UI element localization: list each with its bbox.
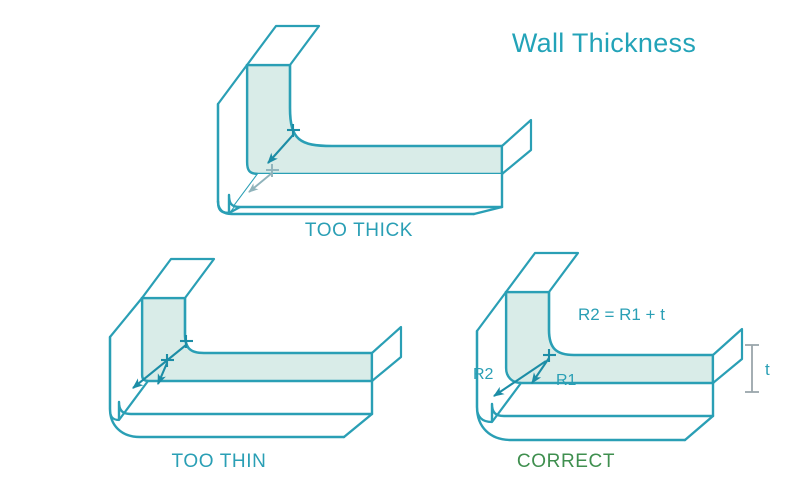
caption-correct: CORRECT: [517, 451, 615, 472]
caption-too-thick: TOO THICK: [305, 220, 413, 241]
too-thin-base-outline: [119, 381, 372, 420]
label-r2: R2: [473, 366, 494, 383]
figure-too-thin: TOO THIN: [110, 259, 401, 472]
wall-thickness-diagram: TOO THICK Wall Thickness TOO THIN: [0, 0, 800, 500]
too-thin-base-far-edge: [344, 414, 372, 437]
correct-top-face: [506, 253, 578, 292]
too-thin-front-face: [142, 298, 372, 381]
too-thick-top-back-edge: [319, 26, 502, 146]
too-thick-front-face: [247, 65, 502, 174]
caption-too-thin: TOO THIN: [172, 451, 267, 472]
correct-base-far-edge: [685, 416, 713, 440]
too-thin-top-face: [142, 259, 214, 298]
correct-end-cap: [713, 329, 742, 383]
thickness-dimension: [745, 345, 759, 392]
label-thickness: t: [765, 360, 770, 379]
too-thin-end-cap: [372, 327, 401, 381]
too-thick-top-face: [247, 26, 319, 65]
figure-correct: R2 = R1 + t R2 R1 t CORRECT: [473, 253, 770, 472]
too-thick-end-cap: [502, 120, 531, 174]
too-thin-left-side: [110, 298, 148, 420]
label-r1: R1: [556, 372, 577, 389]
formula-r2: R2 = R1 + t: [578, 305, 665, 324]
figure-too-thick: TOO THICK: [218, 26, 531, 241]
page-title: Wall Thickness: [512, 28, 696, 58]
correct-base-outline: [492, 383, 713, 422]
diagram-canvas: TOO THICK Wall Thickness TOO THIN: [0, 0, 800, 500]
